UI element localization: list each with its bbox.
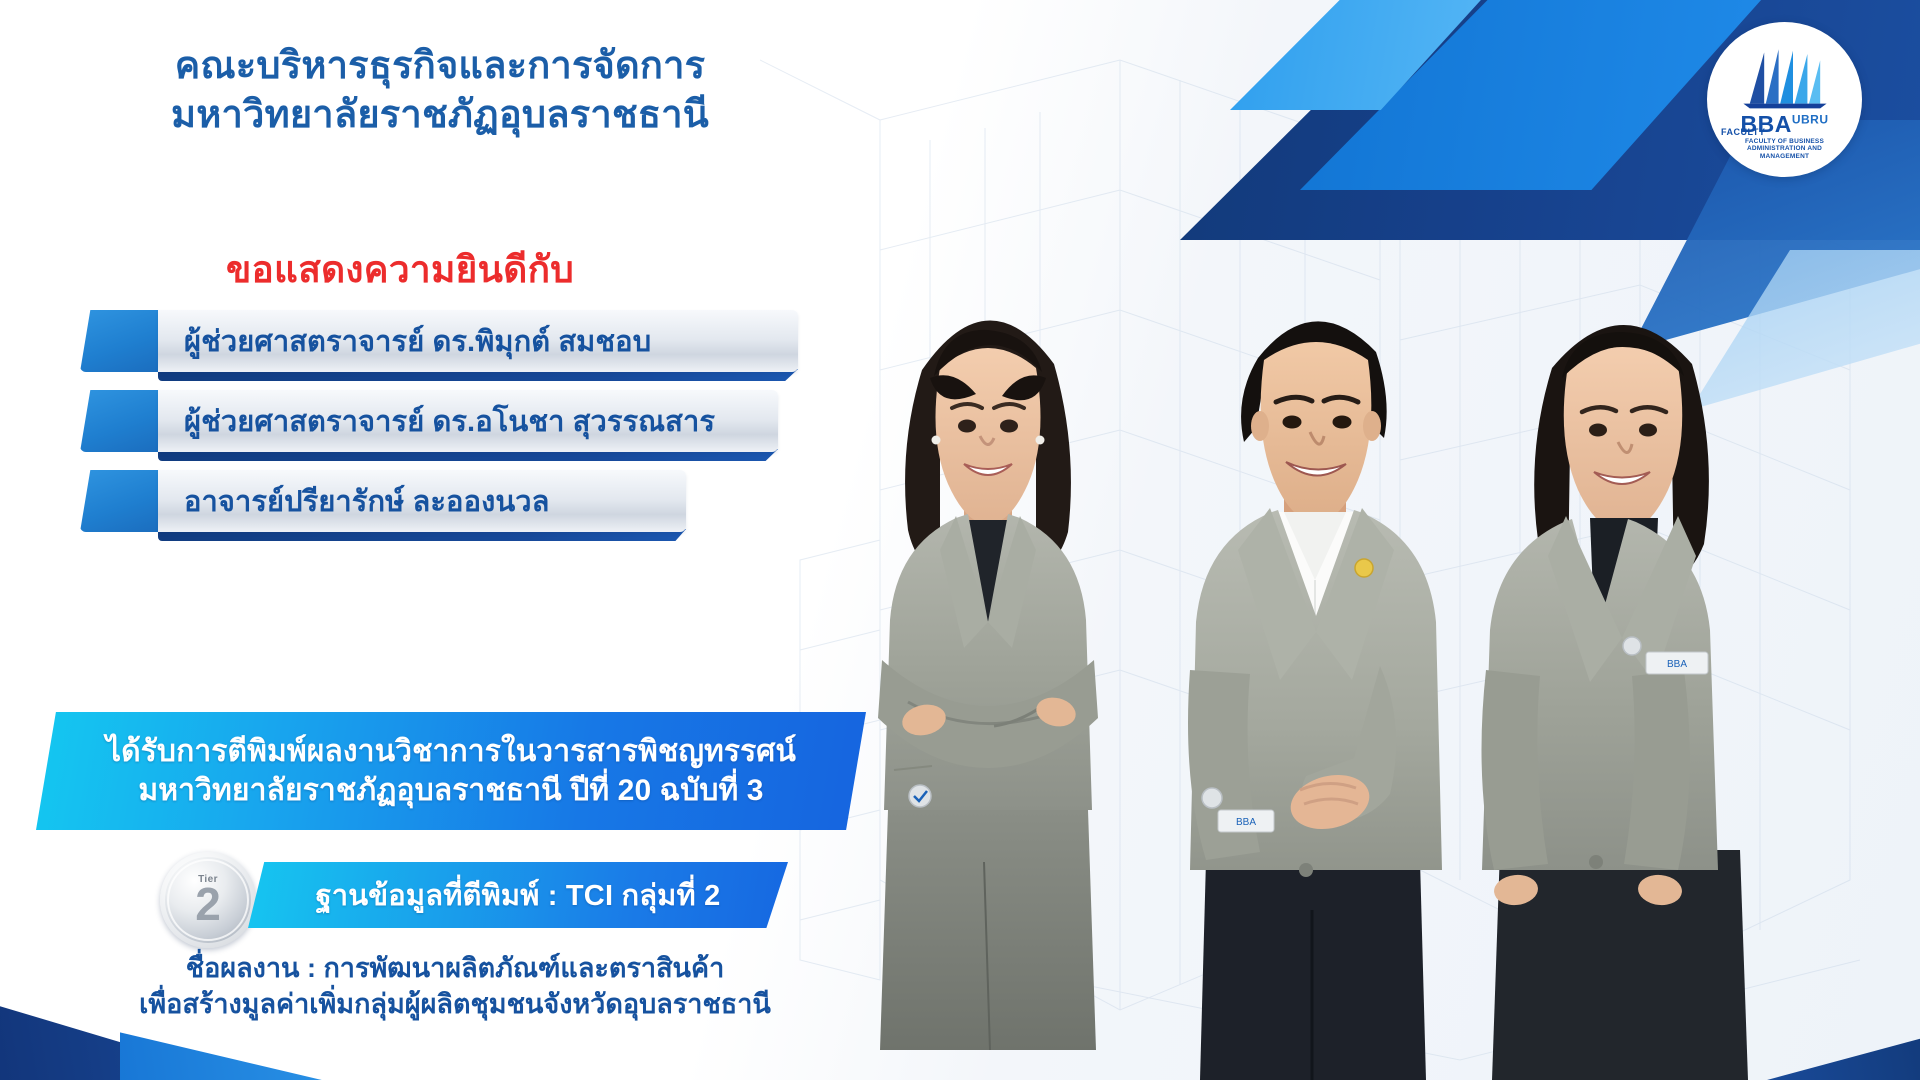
publication-line2: มหาวิทยาลัยราชภัฏอุบลราชธานี ปีที่ 20 ฉบ… xyxy=(138,771,763,810)
tier2-medal-icon: Tier 2 xyxy=(160,852,256,948)
medal-ring xyxy=(167,859,249,941)
database-badge-row: Tier 2 ฐานข้อมูลที่ตีพิมพ์ : TCI กลุ่มที… xyxy=(160,860,860,944)
person-right: BBA xyxy=(1482,325,1749,1080)
person-center: BBA xyxy=(1188,321,1442,1080)
logo-faculty-label: FACULTY xyxy=(1721,127,1765,137)
honoree-name: ผู้ช่วยศาสตราจารย์ ดร.อโนชา สุวรรณสาร xyxy=(184,398,715,444)
faculty-members-photo: BBA xyxy=(860,250,1920,1080)
honoree-name: ผู้ช่วยศาสตราจารย์ ดร.พิมุกต์ สมชอบ xyxy=(184,318,651,364)
honoree-list: ผู้ช่วยศาสตราจารย์ ดร.พิมุกต์ สมชอบ ผู้ช… xyxy=(80,310,820,550)
database-badge-label: ฐานข้อมูลที่ตีพิมพ์ : TCI กลุ่มที่ 2 xyxy=(248,862,788,928)
publication-banner: ได้รับการตีพิมพ์ผลงานวิชาการในวารสารพิชญ… xyxy=(36,712,866,830)
work-title-line2: เพื่อสร้างมูลค่าเพิ่มกลุ่มผู้ผลิตชุมชนจั… xyxy=(40,986,870,1022)
work-title-line1: ชื่อผลงาน : การพัฒนาผลิตภัณฑ์และตราสินค้… xyxy=(40,950,870,986)
poster-content: คณะบริหารธุรกิจและการจัดการ มหาวิทยาลัยร… xyxy=(0,0,900,1080)
person-left xyxy=(878,320,1098,1050)
honoree-name: อาจารย์ปรียารักษ์ ละอองนวล xyxy=(184,478,550,524)
logo-subtitle: FACULTY OF BUSINESS ADMINISTRATION AND M… xyxy=(1729,138,1841,160)
name-bar-accent-cap xyxy=(80,390,166,452)
svg-text:BBA: BBA xyxy=(1236,817,1256,828)
org-title-line2: มหาวิทยาลัยราชภัฏอุบลราชธานี xyxy=(0,91,880,140)
name-bar-accent-cap xyxy=(80,470,166,532)
work-title: ชื่อผลงาน : การพัฒนาผลิตภัณฑ์และตราสินค้… xyxy=(40,950,870,1023)
sailboat-icon xyxy=(1737,45,1833,111)
bba-ubru-logo: BBAUBRU FACULTY OF BUSINESS ADMINISTRATI… xyxy=(1707,22,1862,177)
org-title-line1: คณะบริหารธุรกิจและการจัดการ xyxy=(0,42,880,91)
page-title: คณะบริหารธุรกิจและการจัดการ มหาวิทยาลัยร… xyxy=(0,42,880,139)
name-bar-plate: ผู้ช่วยศาสตราจารย์ ดร.อโนชา สุวรรณสาร xyxy=(158,390,778,452)
logo-brand-suffix: UBRU xyxy=(1792,112,1829,126)
name-bar-accent-cap xyxy=(80,310,166,372)
name-bar-plate: ผู้ช่วยศาสตราจารย์ ดร.พิมุกต์ สมชอบ xyxy=(158,310,798,372)
honoree-row: อาจารย์ปรียารักษ์ ละอองนวล xyxy=(80,470,820,532)
honoree-row: ผู้ช่วยศาสตราจารย์ ดร.พิมุกต์ สมชอบ xyxy=(80,310,820,372)
congratulations-poster: BBA xyxy=(0,0,1920,1080)
congratulations-heading: ขอแสดงความยินดีกับ xyxy=(0,240,800,299)
svg-text:BBA: BBA xyxy=(1667,659,1687,670)
publication-line1: ได้รับการตีพิมพ์ผลงานวิชาการในวารสารพิชญ… xyxy=(106,732,796,771)
honoree-row: ผู้ช่วยศาสตราจารย์ ดร.อโนชา สุวรรณสาร xyxy=(80,390,820,452)
name-bar-plate: อาจารย์ปรียารักษ์ ละอองนวล xyxy=(158,470,686,532)
